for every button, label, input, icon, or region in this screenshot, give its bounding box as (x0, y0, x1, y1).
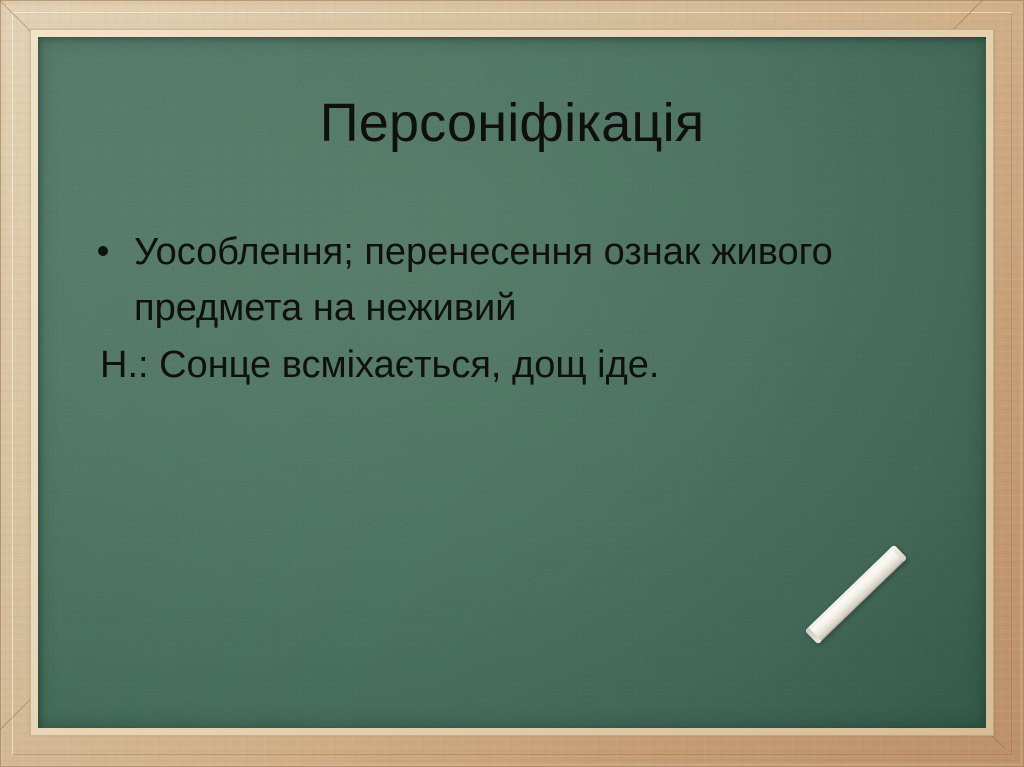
example-sentence: Н.: Сонце всміхається, дощ іде. (62, 337, 896, 393)
bullet-list-item: Уособлення; перенесення ознак живого пре… (62, 224, 896, 336)
slide-content: Персоніфікація Уособлення; перенесення о… (38, 37, 986, 728)
slide-title: Персоніфікація (38, 95, 986, 152)
chalkboard-slide: Персоніфікація Уособлення; перенесення о… (0, 0, 1024, 767)
slide-body: Уособлення; перенесення ознак живого пре… (62, 224, 896, 393)
bullet-item-text: Уособлення; перенесення ознак живого пре… (134, 231, 833, 329)
bullet-dot-icon (98, 246, 108, 256)
chalkboard-surface: Персоніфікація Уособлення; перенесення о… (38, 37, 986, 728)
